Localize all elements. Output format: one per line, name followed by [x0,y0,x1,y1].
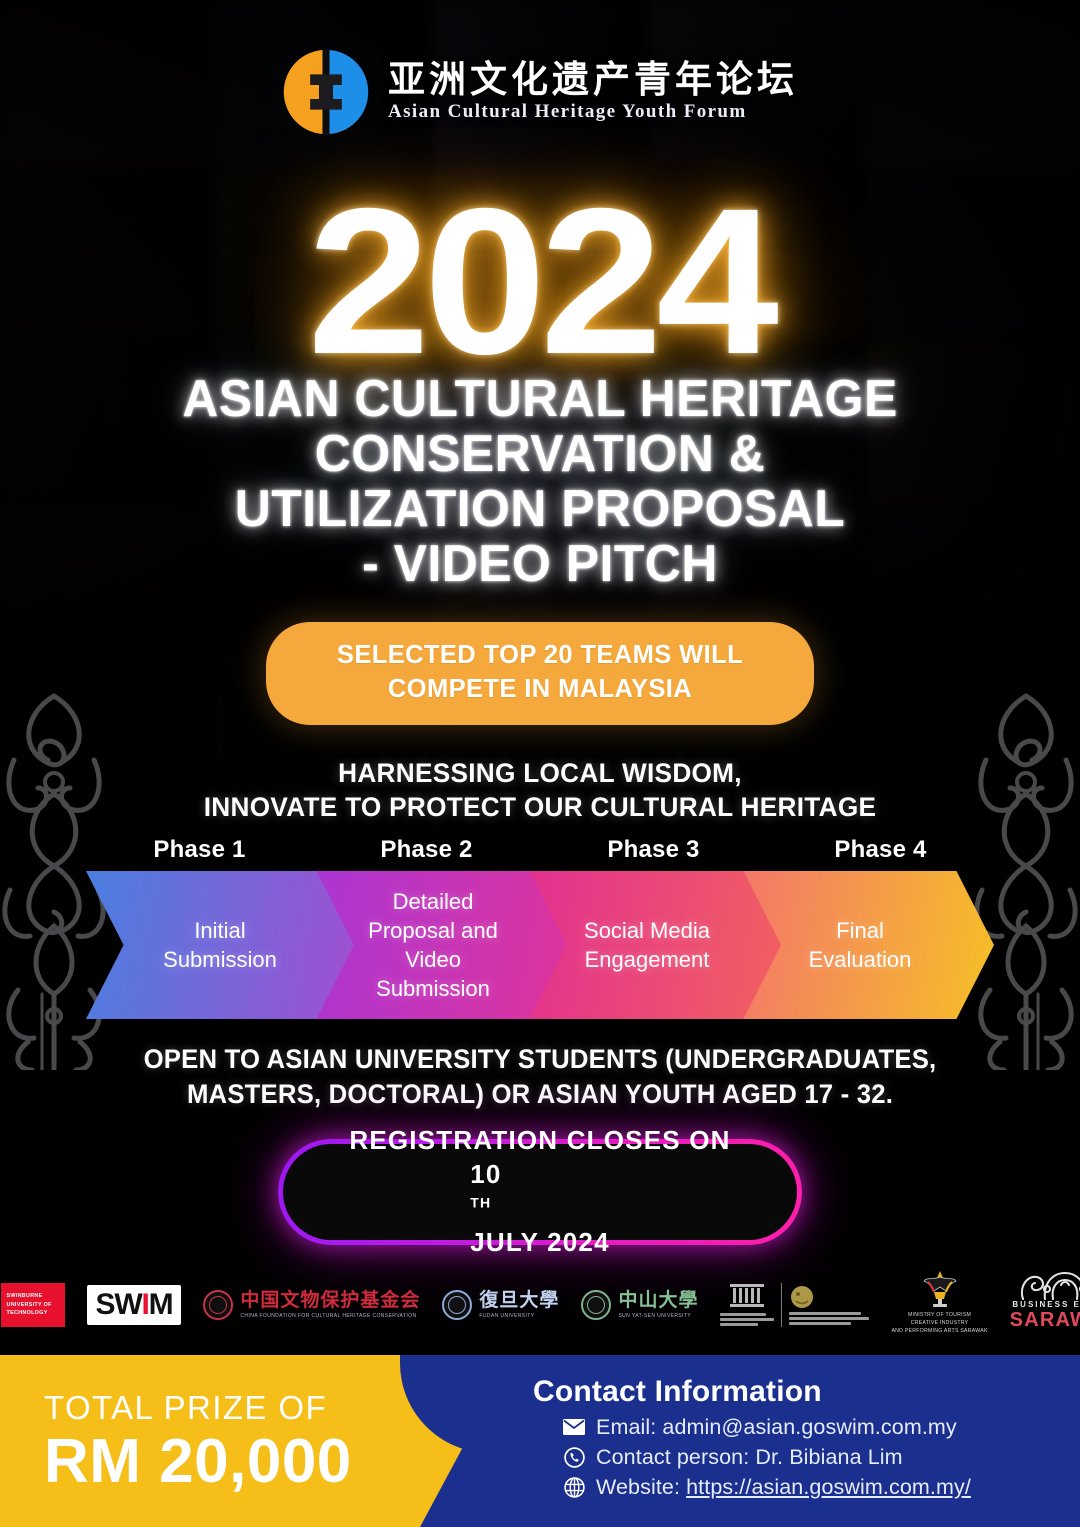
envelope-icon [563,1416,585,1438]
top-teams-banner: SELECTED TOP 20 TEAMS WILL COMPETE IN MA… [266,622,814,725]
china-foundation-name-en: CHINA FOUNDATION FOR CULTURAL HERITAGE C… [240,1313,420,1319]
phase-chevron-label-3: Social MediaEngagement [568,916,726,975]
poster: 亚洲文化遗产青年论坛 Asian Cultural Heritage Youth… [0,0,1080,1527]
brand-lockup: 亚洲文化遗产青年论坛 Asian Cultural Heritage Youth… [0,48,1080,136]
registration-day: 10 [470,1158,609,1192]
unesco-mask-icon [789,1285,815,1309]
sarawak-state-crest-icon [918,1269,962,1309]
phase-label-3: Phase 3 [540,836,767,871]
sarawak-label: SARAWAK [1010,1310,1080,1330]
registration-deadline-badge: REGISTRATION CLOSES ON 10TH JULY 2024 [278,1139,802,1245]
footer: TOTAL PRIZE OF RM 20,000 Contact Informa… [0,1355,1080,1527]
sponsor-fudan-university: 復旦大學 FUDAN UNIVERSITY [442,1269,559,1341]
fudan-name-cn: 復旦大學 [479,1291,559,1310]
registration-date: 10TH JULY 2024 [470,1158,609,1259]
ministry-tourism-caption: MINISTRY OF TOURISM CREATIVE INDUSTRY AN… [891,1312,987,1335]
year-heading: 2024 [0,178,1080,386]
china-foundation-seal-icon [203,1290,233,1320]
eligibility-line-2: MASTERS, DOCTORAL) OR ASIAN YOUTH AGED 1… [65,1077,1016,1112]
unesco-divider [781,1283,782,1327]
contact-heading: Contact Information [533,1375,971,1409]
swim-text-b: M [149,1288,173,1321]
tagline: HARNESSING LOCAL WISDOM, INNOVATE TO PRO… [45,756,1034,824]
fudan-seal-icon [442,1290,472,1320]
sponsor-business-events-sarawak: BUSINESS EVENTS SARAWAK [1010,1269,1080,1341]
swim-wordmark: SWIM [96,1290,173,1320]
website-label: Website: [596,1475,686,1499]
contact-block: Contact Information Email: admin@asian.g… [533,1375,971,1501]
prize-amount: RM 20,000 [44,1429,352,1494]
phase-timeline: Phase 1 Phase 2 Phase 3 Phase 4 InitialS… [86,836,994,1019]
phase-label-1: Phase 1 [86,836,313,871]
prize-label: TOTAL PRIZE OF [44,1391,352,1424]
fudan-name-en: FUDAN UNIVERSITY [479,1313,559,1319]
phase-labels: Phase 1 Phase 2 Phase 3 Phase 4 [86,836,994,871]
website-link[interactable]: https://asian.goswim.com.my/ [686,1475,971,1499]
registration-ordinal: TH [470,1194,491,1210]
acf-circle-logo-icon [282,48,370,136]
registration-line-1: REGISTRATION CLOSES ON [349,1124,730,1158]
phase-chevron-label-1: InitialSubmission [147,916,293,975]
tagline-line-1: HARNESSING LOCAL WISDOM, [45,756,1034,790]
business-events-sarawak-ornament-icon [1017,1269,1080,1303]
swim-accent-letter: I [141,1288,148,1321]
sponsor-swinburne: SWiN BUR •NE• SWINBURNE UNIVERSITY OF TE… [0,1269,65,1341]
contact-row-person: Contact person: Dr. Bibiana Lim [563,1444,971,1471]
business-events-label: BUSINESS EVENTS [1012,1300,1080,1309]
sponsor-unesco [720,1269,869,1341]
contact-email[interactable]: Email: admin@asian.goswim.com.my [596,1414,957,1441]
sun-yat-sen-seal-icon [581,1290,611,1320]
unesco-subtitle-lines [720,1313,774,1326]
brand-name-en: Asian Cultural Heritage Youth Forum [388,101,747,123]
sponsor-china-heritage-foundation: 中国文物保护基金会 CHINA FOUNDATION FOR CULTURAL … [203,1269,420,1341]
phase-chevron-label-4: FinalEvaluation [793,916,928,975]
contact-row-email: Email: admin@asian.goswim.com.my [563,1414,971,1441]
cta-line-1: SELECTED TOP 20 TEAMS WILL [296,639,784,673]
title-line-4: - VIDEO PITCH [60,537,1020,592]
phase-chevrons: InitialSubmissionDetailedProposal andVid… [86,871,994,1019]
sponsor-sun-yat-sen-university: 中山大學 SUN YAT-SEN UNIVERSITY [581,1269,698,1341]
phase-chevron-label-2: DetailedProposal andVideoSubmission [352,887,514,1004]
phone-circle-icon [563,1446,585,1468]
title-line-3: UTILIZATION PROPOSAL [60,482,1020,537]
swim-text-a: SW [96,1288,142,1321]
phase-label-2: Phase 2 [313,836,540,871]
eligibility-statement: OPEN TO ASIAN UNIVERSITY STUDENTS (UNDER… [65,1042,1016,1112]
sun-yat-sen-name-en: SUN YAT-SEN UNIVERSITY [618,1313,698,1319]
sponsor-logo-row: SWiN BUR •NE• SWINBURNE UNIVERSITY OF TE… [0,1262,1080,1348]
title-line-2: CONSERVATION & [60,427,1020,482]
china-foundation-name-cn: 中国文物保护基金会 [240,1291,420,1310]
sponsor-ministry-tourism-sarawak: MINISTRY OF TOURISM CREATIVE INDUSTRY AN… [891,1269,987,1341]
sun-yat-sen-name-cn: 中山大學 [618,1291,698,1310]
phase-label-4: Phase 4 [767,836,994,871]
swinburne-subtitle: SWINBURNE UNIVERSITY OF TECHNOLOGY [1,1283,65,1326]
eligibility-line-1: OPEN TO ASIAN UNIVERSITY STUDENTS (UNDER… [65,1042,1016,1077]
unesco-temple-icon [730,1284,764,1310]
contact-person: Contact person: Dr. Bibiana Lim [596,1444,903,1471]
title-line-1: ASIAN CULTURAL HERITAGE [60,372,1020,427]
tagline-line-2: INNOVATE TO PROTECT OUR CULTURAL HERITAG… [45,790,1034,824]
phase-chevron-1: InitialSubmission [86,871,354,1019]
prize-block: TOTAL PRIZE OF RM 20,000 [44,1391,352,1494]
globe-icon [563,1476,585,1498]
contact-website: Website: https://asian.goswim.com.my/ [596,1474,971,1501]
page-title: ASIAN CULTURAL HERITAGE CONSERVATION & U… [60,372,1020,592]
registration-month-year: JULY 2024 [470,1226,609,1260]
contact-row-website: Website: https://asian.goswim.com.my/ [563,1474,971,1501]
cta-line-2: COMPETE IN MALAYSIA [296,673,784,707]
sponsor-swim: SWIM [87,1269,182,1341]
brand-name-cn: 亚洲文化遗产青年论坛 [388,61,798,100]
